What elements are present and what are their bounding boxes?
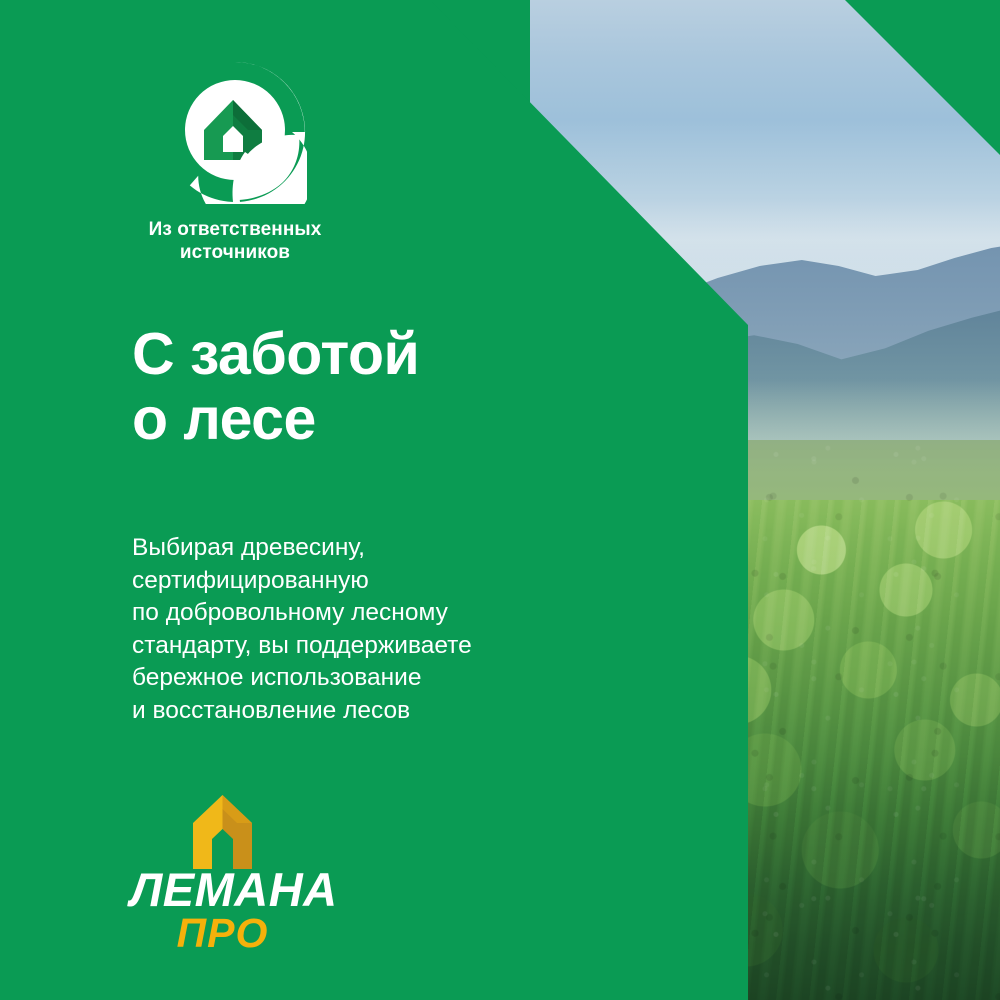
certification-badge: Из ответственных источников [130, 60, 340, 264]
house-leaf-circle-icon [163, 60, 307, 204]
page-title: С заботой о лесе [132, 322, 419, 452]
brand-suffix: ПРО [130, 913, 315, 954]
certification-caption: Из ответственных источников [130, 218, 340, 264]
poster-content: Из ответственных источников С заботой о … [0, 0, 1000, 1000]
brand-logo: ЛЕМАНА ПРО [130, 793, 315, 954]
brand-name: ЛЕМАНА [130, 867, 315, 912]
poster: Из ответственных источников С заботой о … [0, 0, 1000, 1000]
body-paragraph: Выбирая древесину, сертифицированную по … [132, 532, 472, 727]
lemana-house-icon [130, 793, 315, 869]
